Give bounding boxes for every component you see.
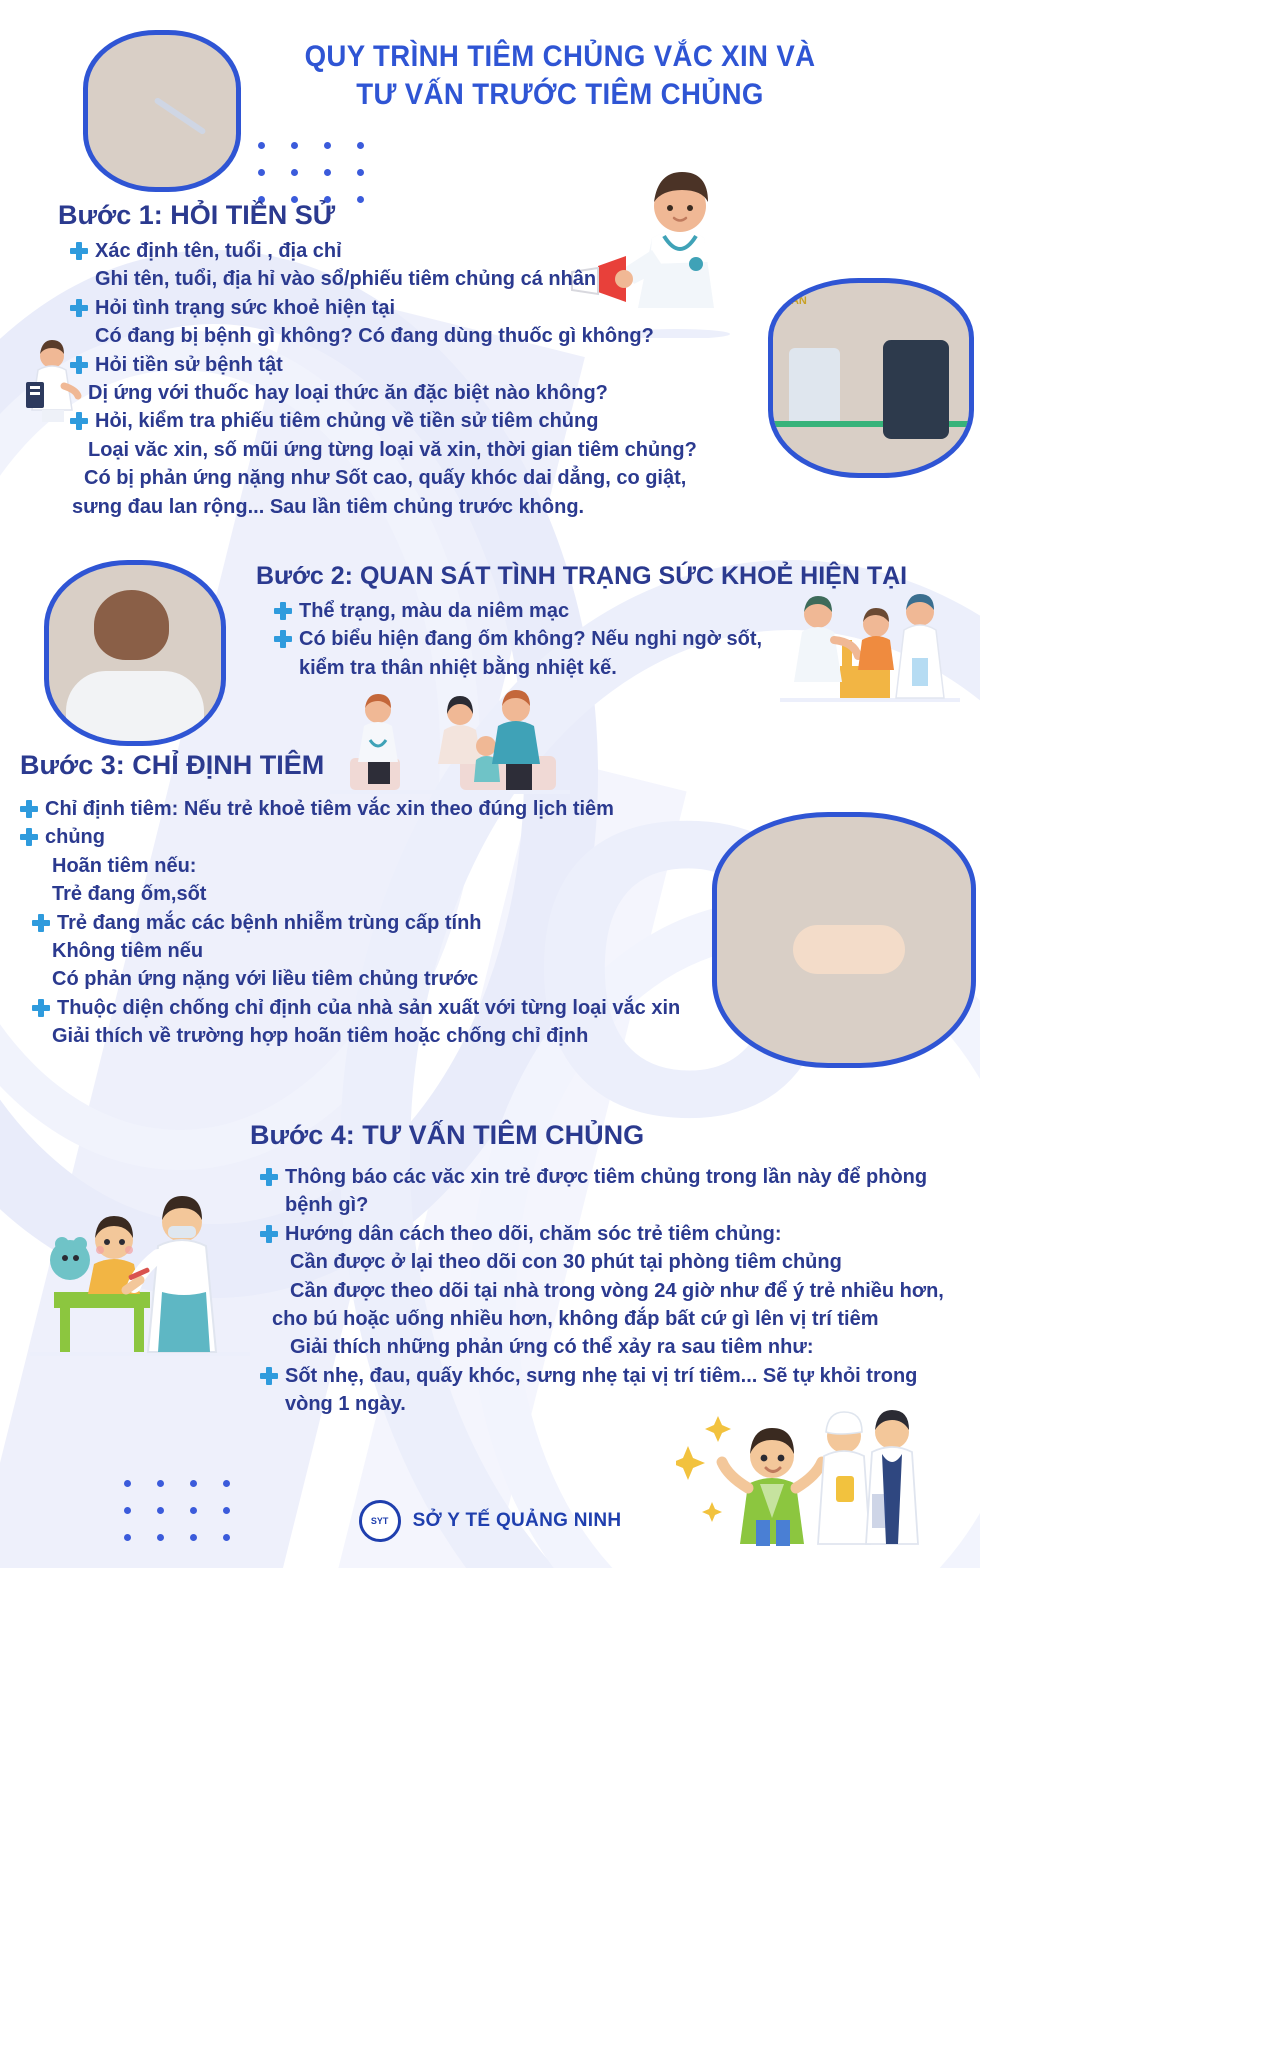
step-1-line-0: Xác định tên, tuổi , địa chỉ (58, 237, 818, 265)
step-4-line-4: Cần được theo dõi tại nhà trong vòng 24 … (250, 1277, 970, 1305)
step-1-line-4: Hỏi tiền sử bệnh tật (58, 351, 818, 379)
cross-bullet-icon (32, 999, 50, 1017)
bullet-text: Hỏi, kiểm tra phiếu tiêm chủng về tiền s… (95, 407, 598, 435)
page-title: QUY TRÌNH TIÊM CHỦNG VẮC XIN VÀ TƯ VẤN T… (275, 38, 845, 115)
step-1-line-6: Hỏi, kiểm tra phiếu tiêm chủng về tiền s… (58, 407, 818, 435)
step-3-line-1: chủng (20, 823, 760, 851)
cross-bullet-icon (260, 1225, 278, 1243)
step-3-line-0: Chỉ định tiêm: Nếu trẻ khoẻ tiêm vắc xin… (20, 795, 760, 823)
step-3-line-4: Trẻ đang mắc các bệnh nhiễm trùng cấp tí… (20, 909, 760, 937)
bullet-text: Có đang bị bệnh gì không? Có đang dùng t… (95, 322, 654, 350)
step-4-line-1: bệnh gì? (250, 1191, 970, 1219)
cross-bullet-icon (274, 602, 292, 620)
cross-bullet-icon (260, 1168, 278, 1186)
bullet-text: Sốt nhẹ, đau, quấy khóc, sưng nhẹ tại vị… (285, 1362, 917, 1390)
bullet-text: Chỉ định tiêm: Nếu trẻ khoẻ tiêm vắc xin… (45, 795, 614, 823)
dot-grid-top (258, 142, 364, 203)
cross-bullet-icon (32, 914, 50, 932)
step-1-line-9: sưng đau lan rộng... Sau lần tiêm chủng … (58, 493, 818, 521)
bullet-text: Có phản ứng nặng với liều tiêm chủng trư… (52, 965, 478, 993)
step-4-line-2: Hướng dân cách theo dõi, chăm sóc trẻ ti… (250, 1220, 970, 1248)
bullet-text: bệnh gì? (285, 1191, 368, 1219)
bullet-text: Ghi tên, tuổi, địa hỉ vào sổ/phiếu tiêm … (95, 265, 596, 293)
step-4-block: Bước 4: TƯ VẤN TIÊM CHỦNG Thông báo các … (250, 1120, 970, 1419)
bullet-text: Trẻ đang mắc các bệnh nhiễm trùng cấp tí… (57, 909, 482, 937)
step-1-lines: Xác định tên, tuổi , địa chỉ Ghi tên, tu… (58, 237, 818, 521)
bullet-text: Thuộc diện chống chỉ định của nhà sản xu… (57, 994, 680, 1022)
bullet-text: Thể trạng, màu da niêm mạc (299, 597, 569, 625)
infographic-page: C QUY TRÌNH TIÊM CHỦNG VẮC XIN VÀ TƯ VẤN… (0, 0, 980, 1568)
bullet-text: Hỏi tiền sử bệnh tật (95, 351, 283, 379)
cross-bullet-icon (20, 800, 38, 818)
page-title-line-2: TƯ VẤN TRƯỚC TIÊM CHỦNG (275, 76, 845, 114)
cross-bullet-icon (20, 828, 38, 846)
step-1-line-1: Ghi tên, tuổi, địa hỉ vào sổ/phiếu tiêm … (58, 265, 818, 293)
step-4-line-3: Cần được ở lại theo dõi con 30 phút tại … (250, 1248, 970, 1276)
step-4-line-6: Giải thích những phản ứng có thể xảy ra … (250, 1333, 970, 1361)
cross-bullet-icon (70, 412, 88, 430)
footer-organization: SỞ Y TẾ QUẢNG NINH (413, 1510, 622, 1532)
bullet-text: Trẻ đang ốm,sốt (52, 880, 206, 908)
bullet-text: cho bú hoặc uống nhiều hơn, không đắp bấ… (272, 1305, 879, 1333)
step-1-line-3: Có đang bị bệnh gì không? Có đang dùng t… (58, 322, 818, 350)
bullet-text: vòng 1 ngày. (285, 1390, 406, 1418)
health-department-seal-icon: SYT (359, 1500, 401, 1542)
bullet-text: Cần được ở lại theo dõi con 30 phút tại … (290, 1248, 842, 1276)
nurse-portrait-photo (44, 560, 216, 736)
step-4-line-5: cho bú hoặc uống nhiều hơn, không đắp bấ… (250, 1305, 970, 1333)
step-1-block: Bước 1: HỎI TIỀN SỬ Xác định tên, tuổi ,… (58, 200, 818, 521)
bullet-text: Không tiêm nếu (52, 937, 203, 965)
doctor-examining-child-illustration (780, 588, 960, 711)
step-3-line-8: Giải thích về trường hợp hoãn tiêm hoặc … (20, 1022, 760, 1050)
cross-bullet-icon (70, 242, 88, 260)
step-3-lines: Chỉ định tiêm: Nếu trẻ khoẻ tiêm vắc xin… (20, 795, 760, 1051)
doctor-vaccinating-child-illustration (30, 1180, 250, 1365)
bullet-text: Thông báo các văc xin trẻ được tiêm chủn… (285, 1163, 927, 1191)
bullet-text: chủng (45, 823, 105, 851)
step-4-line-7: Sốt nhẹ, đau, quấy khóc, sưng nhẹ tại vị… (250, 1362, 970, 1390)
step-3-line-6: Có phản ứng nặng với liều tiêm chủng trư… (20, 965, 760, 993)
bullet-text: Hỏi tình trạng sức khoẻ hiện tại (95, 294, 395, 322)
step-1-line-5: Dị ứng với thuốc hay loại thức ăn đặc bi… (58, 379, 818, 407)
step-1-heading: Bước 1: HỎI TIỀN SỬ (58, 200, 818, 231)
bullet-text: Giải thích về trường hợp hoãn tiêm hoặc … (52, 1022, 588, 1050)
bullet-text: Loại văc xin, số mũi ứng từng loại vă xi… (88, 436, 697, 464)
bullet-text: Giải thích những phản ứng có thể xảy ra … (290, 1333, 814, 1361)
bullet-text: sưng đau lan rộng... Sau lần tiêm chủng … (72, 493, 584, 521)
footer: SYT SỞ Y TẾ QUẢNG NINH (0, 1500, 980, 1542)
bullet-text: kiểm tra thân nhiệt bằng nhiệt kế. (299, 654, 617, 682)
page-title-line-1: QUY TRÌNH TIÊM CHỦNG VẮC XIN VÀ (275, 38, 845, 76)
step-1-line-8: Có bị phản ứng nặng như Sốt cao, quấy kh… (58, 464, 818, 492)
step-3-line-7: Thuộc diện chống chỉ định của nhà sản xu… (20, 994, 760, 1022)
step-3-line-3: Trẻ đang ốm,sốt (20, 880, 760, 908)
bullet-text: Cần được theo dõi tại nhà trong vòng 24 … (290, 1277, 944, 1305)
step-2-heading: Bước 2: QUAN SÁT TÌNH TRẠNG SỨC KHOẺ HIỆ… (256, 562, 976, 591)
cross-bullet-icon (260, 1367, 278, 1385)
step-4-lines: Thông báo các văc xin trẻ được tiêm chủn… (250, 1163, 970, 1419)
step-4-heading: Bước 4: TƯ VẤN TIÊM CHỦNG (250, 1120, 970, 1151)
bullet-text: Dị ứng với thuốc hay loại thức ăn đặc bi… (88, 379, 608, 407)
step-3-heading: Bước 3: CHỈ ĐỊNH TIÊM (20, 750, 760, 781)
arm-injection-photo (83, 30, 231, 182)
bullet-text: Hoãn tiêm nếu: (52, 852, 196, 880)
step-1-line-2: Hỏi tình trạng sức khoẻ hiện tại (58, 294, 818, 322)
bullet-text: Hướng dân cách theo dõi, chăm sóc trẻ ti… (285, 1220, 782, 1248)
cross-bullet-icon (274, 630, 292, 648)
step-1-line-7: Loại văc xin, số mũi ứng từng loại vă xi… (58, 436, 818, 464)
cross-bullet-icon (70, 299, 88, 317)
seal-text: SYT (371, 1517, 389, 1526)
step-3-line-2: Hoãn tiêm nếu: (20, 852, 760, 880)
bullet-text: Có biểu hiện đang ốm không? Nếu nghi ngờ… (299, 625, 762, 653)
bullet-text: Có bị phản ứng nặng như Sốt cao, quấy kh… (84, 464, 686, 492)
step-4-line-0: Thông báo các văc xin trẻ được tiêm chủn… (250, 1163, 970, 1191)
step-3-block: Bước 3: CHỈ ĐỊNH TIÊM Chỉ định tiêm: Nếu… (20, 750, 760, 1051)
step-3-line-5: Không tiêm nếu (20, 937, 760, 965)
bullet-text: Xác định tên, tuổi , địa chỉ (95, 237, 342, 265)
cross-bullet-icon (70, 356, 88, 374)
